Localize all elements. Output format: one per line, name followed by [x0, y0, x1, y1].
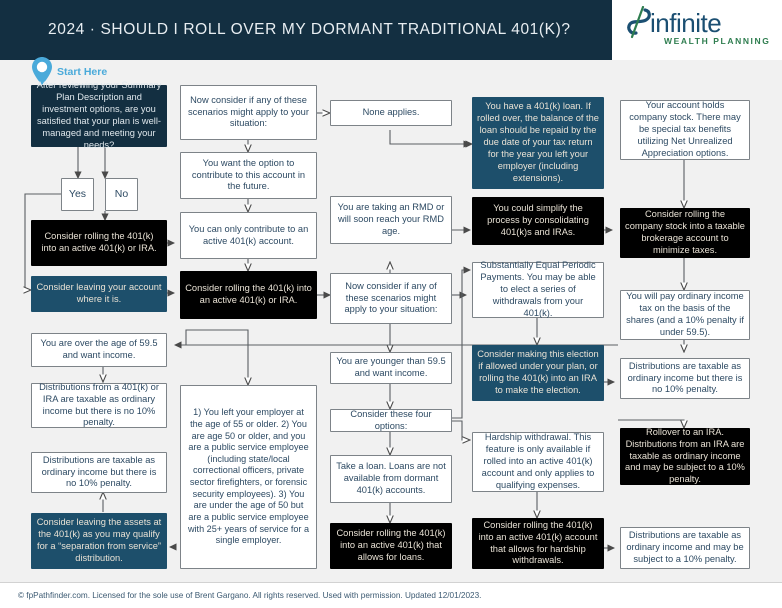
node-text: None applies. — [336, 107, 446, 119]
node-text: No — [111, 188, 132, 201]
node-make-sepp-election[interactable]: Consider making this election if allowed… — [472, 345, 604, 401]
node-text: Rollover to an IRA. Distributions from a… — [625, 427, 745, 486]
node-text: 1) You left your employer at the age of … — [186, 407, 311, 547]
node-roll-into-active-401k-1[interactable]: Consider rolling the 401(k) into an acti… — [31, 220, 167, 266]
node-text: Take a loan. Loans are not available fro… — [336, 461, 446, 497]
node-text: Distributions from a 401(k) or IRA are t… — [37, 382, 161, 430]
node-roll-active-401k-hardship[interactable]: Consider rolling the 401(k) into an acti… — [472, 518, 604, 569]
page-title: 2024 · SHOULD I ROLL OVER MY DORMANT TRA… — [48, 0, 571, 60]
node-consider-scenarios-1[interactable]: Now consider if any of these scenarios m… — [180, 85, 317, 140]
node-text: You want the option to contribute to thi… — [186, 158, 311, 194]
node-dist-ordinary-no-penalty-2[interactable]: Distributions are taxable as ordinary in… — [620, 358, 750, 399]
node-ordinary-tax-basis[interactable]: You will pay ordinary income tax on the … — [620, 290, 750, 340]
flowchart-page: 2024 · SHOULD I ROLL OVER MY DORMANT TRA… — [0, 0, 782, 608]
node-text: You are taking an RMD or will soon reach… — [336, 202, 446, 238]
node-text: Consider leaving the assets at the 401(k… — [36, 517, 162, 565]
node-dist-401k-ira-no-penalty[interactable]: Distributions from a 401(k) or IRA are t… — [31, 383, 167, 428]
node-text: Now consider if any of these scenarios m… — [186, 95, 311, 131]
node-text: You have a 401(k) loan. If rolled over, … — [477, 101, 599, 184]
node-text: Consider making this election if allowed… — [477, 349, 599, 397]
node-consider-scenarios-2[interactable]: Now consider if any of these scenarios m… — [330, 273, 452, 324]
logo-tagline: WEALTH PLANNING — [664, 36, 770, 46]
node-text: Hardship withdrawal. This feature is onl… — [478, 432, 598, 491]
brand-logo: infinite WEALTH PLANNING — [622, 6, 774, 54]
node-roll-into-active-401k-2[interactable]: Consider rolling the 401(k) into an acti… — [180, 271, 317, 319]
node-yes[interactable]: Yes — [61, 178, 94, 211]
node-separation-from-service[interactable]: Consider leaving the assets at the 401(k… — [31, 513, 167, 569]
node-text: Consider rolling the company stock into … — [625, 209, 745, 257]
node-none-applies[interactable]: None applies. — [330, 100, 452, 126]
node-text: Substantially Equal Periodic Payments. Y… — [478, 260, 598, 319]
node-taking-rmd[interactable]: You are taking an RMD or will soon reach… — [330, 196, 452, 244]
node-no[interactable]: No — [105, 178, 138, 211]
node-text: Consider these four options: — [336, 409, 446, 433]
node-roll-active-401k-loans[interactable]: Consider rolling the 401(k) into an acti… — [330, 523, 452, 569]
node-only-active-401k-contrib[interactable]: You can only contribute to an active 401… — [180, 212, 317, 259]
node-text: Consider rolling the 401(k) into an acti… — [185, 283, 312, 307]
node-text: Consider rolling the 401(k) into an acti… — [335, 528, 447, 564]
node-text: Consider leaving your account where it i… — [36, 282, 162, 306]
node-text: You can only contribute to an active 401… — [186, 224, 311, 248]
node-text: You are younger than 59.5 and want incom… — [336, 356, 446, 380]
node-hardship-withdrawal[interactable]: Hardship withdrawal. This feature is onl… — [472, 432, 604, 492]
node-text: Distributions are taxable as ordinary in… — [626, 361, 744, 397]
node-younger-59-5-income[interactable]: You are younger than 59.5 and want incom… — [330, 352, 452, 384]
node-text: Consider rolling the 401(k) into an acti… — [36, 231, 162, 255]
node-want-future-contributions[interactable]: You want the option to contribute to thi… — [180, 152, 317, 199]
node-text: You will pay ordinary income tax on the … — [626, 291, 744, 339]
node-sepp[interactable]: Substantially Equal Periodic Payments. Y… — [472, 262, 604, 318]
node-four-options[interactable]: Consider these four options: — [330, 409, 452, 432]
node-dist-ordinary-no-penalty[interactable]: Distributions are taxable as ordinary in… — [31, 452, 167, 493]
logo-wordmark: infinite — [650, 8, 721, 39]
node-text: Distributions are taxable as ordinary in… — [37, 455, 161, 491]
node-rollover-to-ira[interactable]: Rollover to an IRA. Distributions from a… — [620, 428, 750, 485]
node-start-question[interactable]: After reviewing your Summary Plan Descri… — [31, 85, 167, 147]
node-company-stock-nua[interactable]: Your account holds company stock. There … — [620, 100, 750, 160]
node-text: Consider rolling the 401(k) into an acti… — [477, 520, 599, 568]
node-leave-account[interactable]: Consider leaving your account where it i… — [31, 276, 167, 312]
footer-copyright: © fpPathfinder.com. Licensed for the sol… — [0, 583, 782, 608]
node-text: Yes — [67, 188, 88, 201]
node-dist-ordinary-may-penalty[interactable]: Distributions are taxable as ordinary in… — [620, 527, 750, 569]
node-text: You could simplify the process by consol… — [477, 203, 599, 239]
start-here-label: Start Here — [57, 66, 107, 78]
node-text: After reviewing your Summary Plan Descri… — [36, 80, 162, 151]
node-401k-loan-repay[interactable]: You have a 401(k) loan. If rolled over, … — [472, 97, 604, 189]
node-text: You are over the age of 59.5 and want in… — [37, 338, 161, 362]
node-text: Now consider if any of these scenarios m… — [336, 281, 446, 317]
node-simplify-consolidating[interactable]: You could simplify the process by consol… — [472, 197, 604, 245]
node-take-a-loan[interactable]: Take a loan. Loans are not available fro… — [330, 455, 452, 503]
node-text: Distributions are taxable as ordinary in… — [626, 530, 744, 566]
node-text: Your account holds company stock. There … — [626, 100, 744, 159]
node-age-55-exception-list[interactable]: 1) You left your employer at the age of … — [180, 385, 317, 569]
node-roll-stock-brokerage[interactable]: Consider rolling the company stock into … — [620, 208, 750, 258]
node-over-59-5-income[interactable]: You are over the age of 59.5 and want in… — [31, 333, 167, 367]
